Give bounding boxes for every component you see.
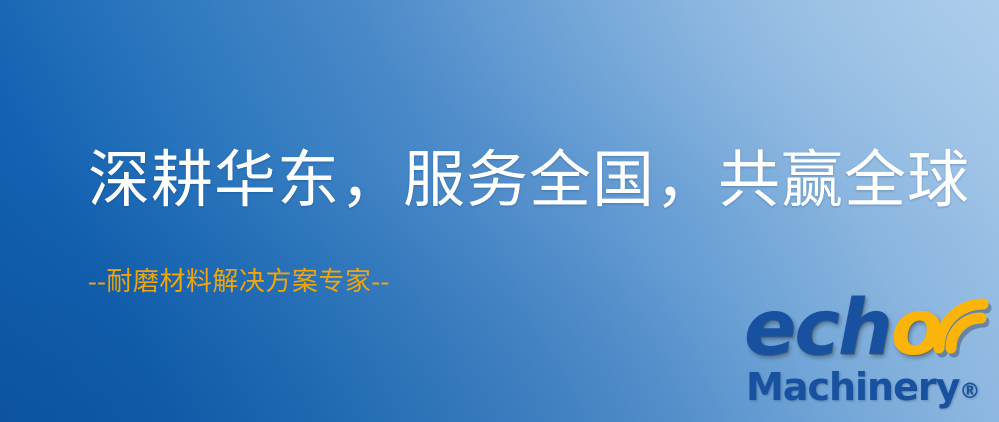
banner-headline: 深耕华东，服务全国，共赢全球 [88,148,970,215]
company-logo[interactable]: echo Machinery® [744,296,996,420]
logo-wordmark-ech: ech [744,284,891,373]
logo-sub-wordmark: Machinery® [746,368,980,406]
logo-wordmark: echo [744,290,942,367]
hero-banner: 深耕华东，服务全国，共赢全球 --耐磨材料解决方案专家-- echo Machi… [0,0,999,422]
banner-subtitle: --耐磨材料解决方案专家-- [88,266,390,297]
logo-sub-text: Machinery [746,365,959,409]
echo-signal-arcs-icon [925,292,997,364]
registered-trademark-icon: ® [959,379,980,403]
